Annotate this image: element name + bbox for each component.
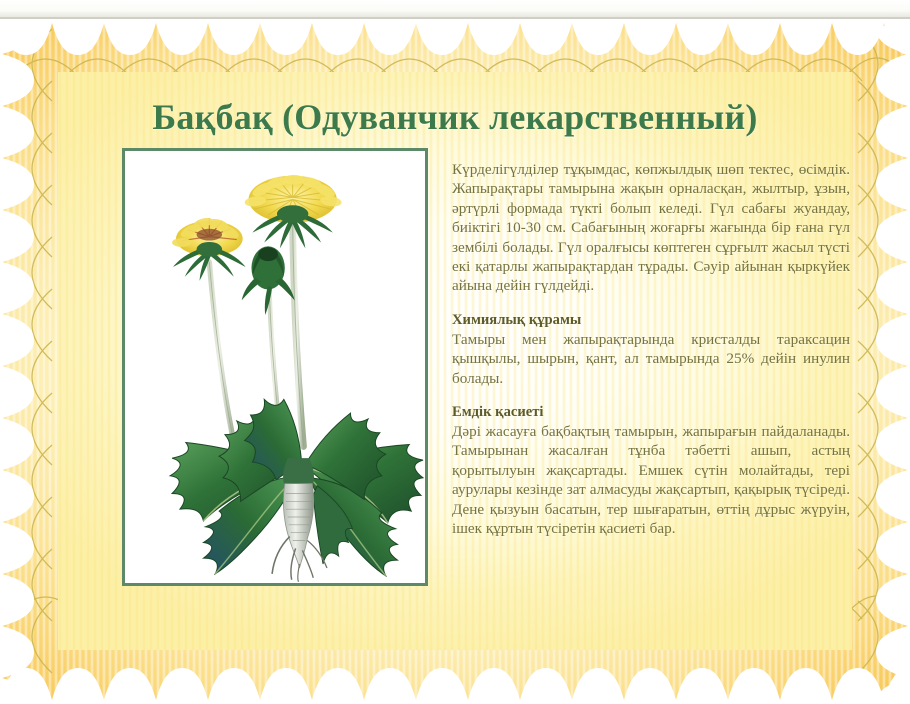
- section-heading-chemical: Химиялық құрамы: [452, 311, 850, 329]
- top-paper-edge-line: [0, 17, 910, 19]
- intro-paragraph: Күрделігүлділер тұқымдас, көпжылдық шөп …: [452, 160, 850, 296]
- section-body-medicinal: Дәрі жасауға бақбақтың тамырын, жапырағы…: [452, 422, 850, 538]
- page-title: Бақбақ (Одуванчик лекарственный): [58, 96, 852, 138]
- poster-page: Бақбақ (Одуванчик лекарственный): [0, 0, 910, 704]
- illustration-frame: [122, 148, 428, 586]
- article-text-column: Күрделігүлділер тұқымдас, көпжылдық шөп …: [452, 160, 850, 539]
- section-heading-medicinal: Емдік қасиеті: [452, 403, 850, 421]
- section-body-chemical: Тамыры мен жапырақтарында кристалды тара…: [452, 330, 850, 388]
- dandelion-illustration: [125, 151, 425, 583]
